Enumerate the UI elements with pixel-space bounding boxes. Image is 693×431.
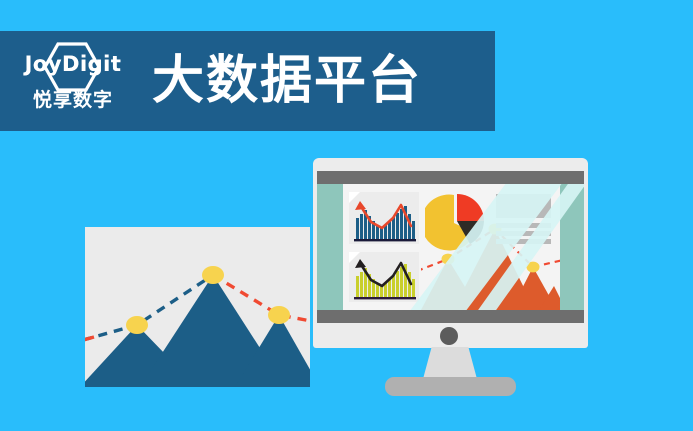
data-node	[268, 306, 290, 324]
monitor-stand-base	[385, 377, 516, 396]
trend-line-red-stub	[85, 337, 94, 340]
camera-dot-icon	[440, 327, 458, 345]
logo-wordmark: JoyDigit	[25, 54, 122, 75]
data-node	[202, 266, 224, 284]
page-title: 大数据平台	[152, 55, 422, 107]
monitor-bottom-bar	[317, 310, 584, 323]
monitor-screen	[317, 184, 584, 310]
monitor	[313, 158, 588, 348]
monitor-top-bar	[317, 171, 584, 184]
data-node	[126, 316, 148, 334]
left-mountain-panel	[85, 227, 310, 387]
logo-subtitle: 悦享数字	[33, 91, 113, 110]
poster-canvas: JoyDigit 悦享数字 大数据平台	[0, 0, 693, 431]
header-banner: JoyDigit 悦享数字 大数据平台	[0, 31, 495, 131]
left-mountain-chart	[85, 227, 310, 387]
screen-glare-icon	[317, 184, 584, 310]
brand-logo: JoyDigit 悦享数字	[14, 40, 132, 122]
monitor-stand-neck	[423, 347, 477, 379]
